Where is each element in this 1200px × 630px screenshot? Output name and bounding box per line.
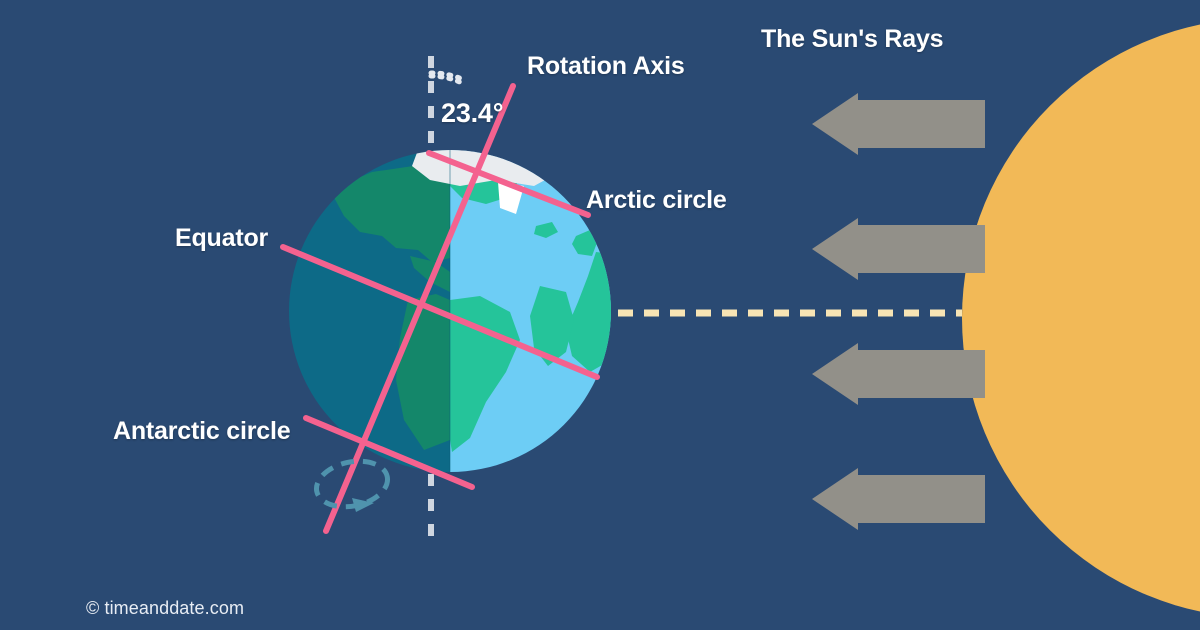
label-rotation-axis: Rotation Axis (527, 52, 685, 81)
label-suns-rays: The Sun's Rays (761, 25, 943, 54)
label-tilt-angle: 23.4° (441, 98, 503, 129)
copyright-notice: © timeanddate.com (86, 598, 244, 619)
label-antarctic-circle: Antarctic circle (113, 417, 290, 446)
label-equator: Equator (175, 224, 268, 253)
label-arctic-circle: Arctic circle (586, 186, 727, 215)
earth-sun-diagram (0, 0, 1200, 630)
diagram-canvas: Rotation Axis 23.4° Arctic circle Equato… (0, 0, 1200, 630)
